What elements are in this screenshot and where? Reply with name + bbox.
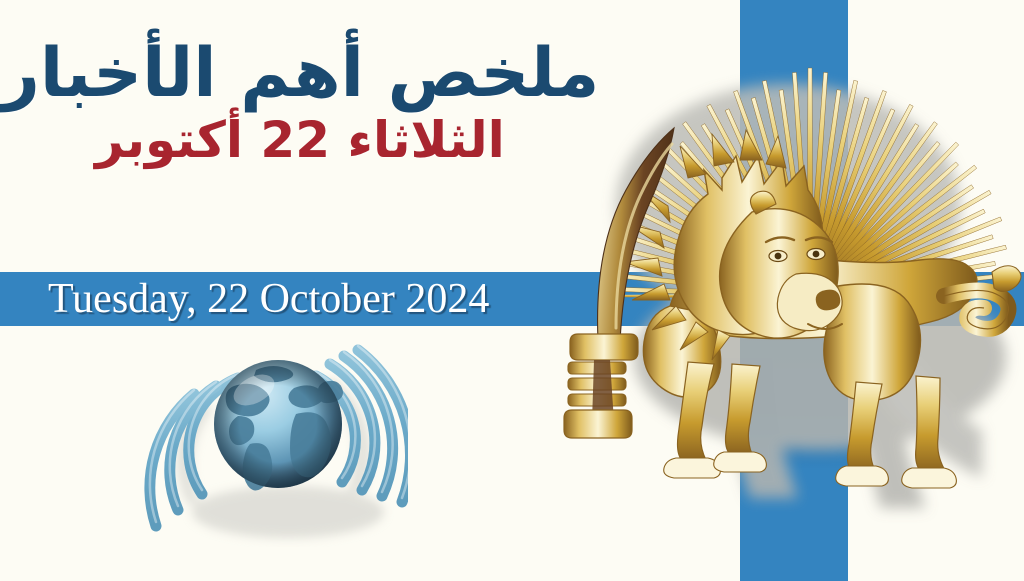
poster-canvas: ملخص أهم الأخبار الثلاثاء 22 أكتوبر (0, 0, 1024, 581)
date-band-text: Tuesday, 22 October 2024 (48, 272, 489, 326)
globe-sphere (214, 360, 343, 491)
globe-broadcast-logo (138, 342, 408, 547)
headline-sub-arabic: الثلاثاء 22 أكتوبر (0, 114, 600, 167)
headline-main-arabic: ملخص أهم الأخبار (0, 40, 600, 108)
headline-block: ملخص أهم الأخبار الثلاثاء 22 أكتوبر (0, 40, 600, 167)
